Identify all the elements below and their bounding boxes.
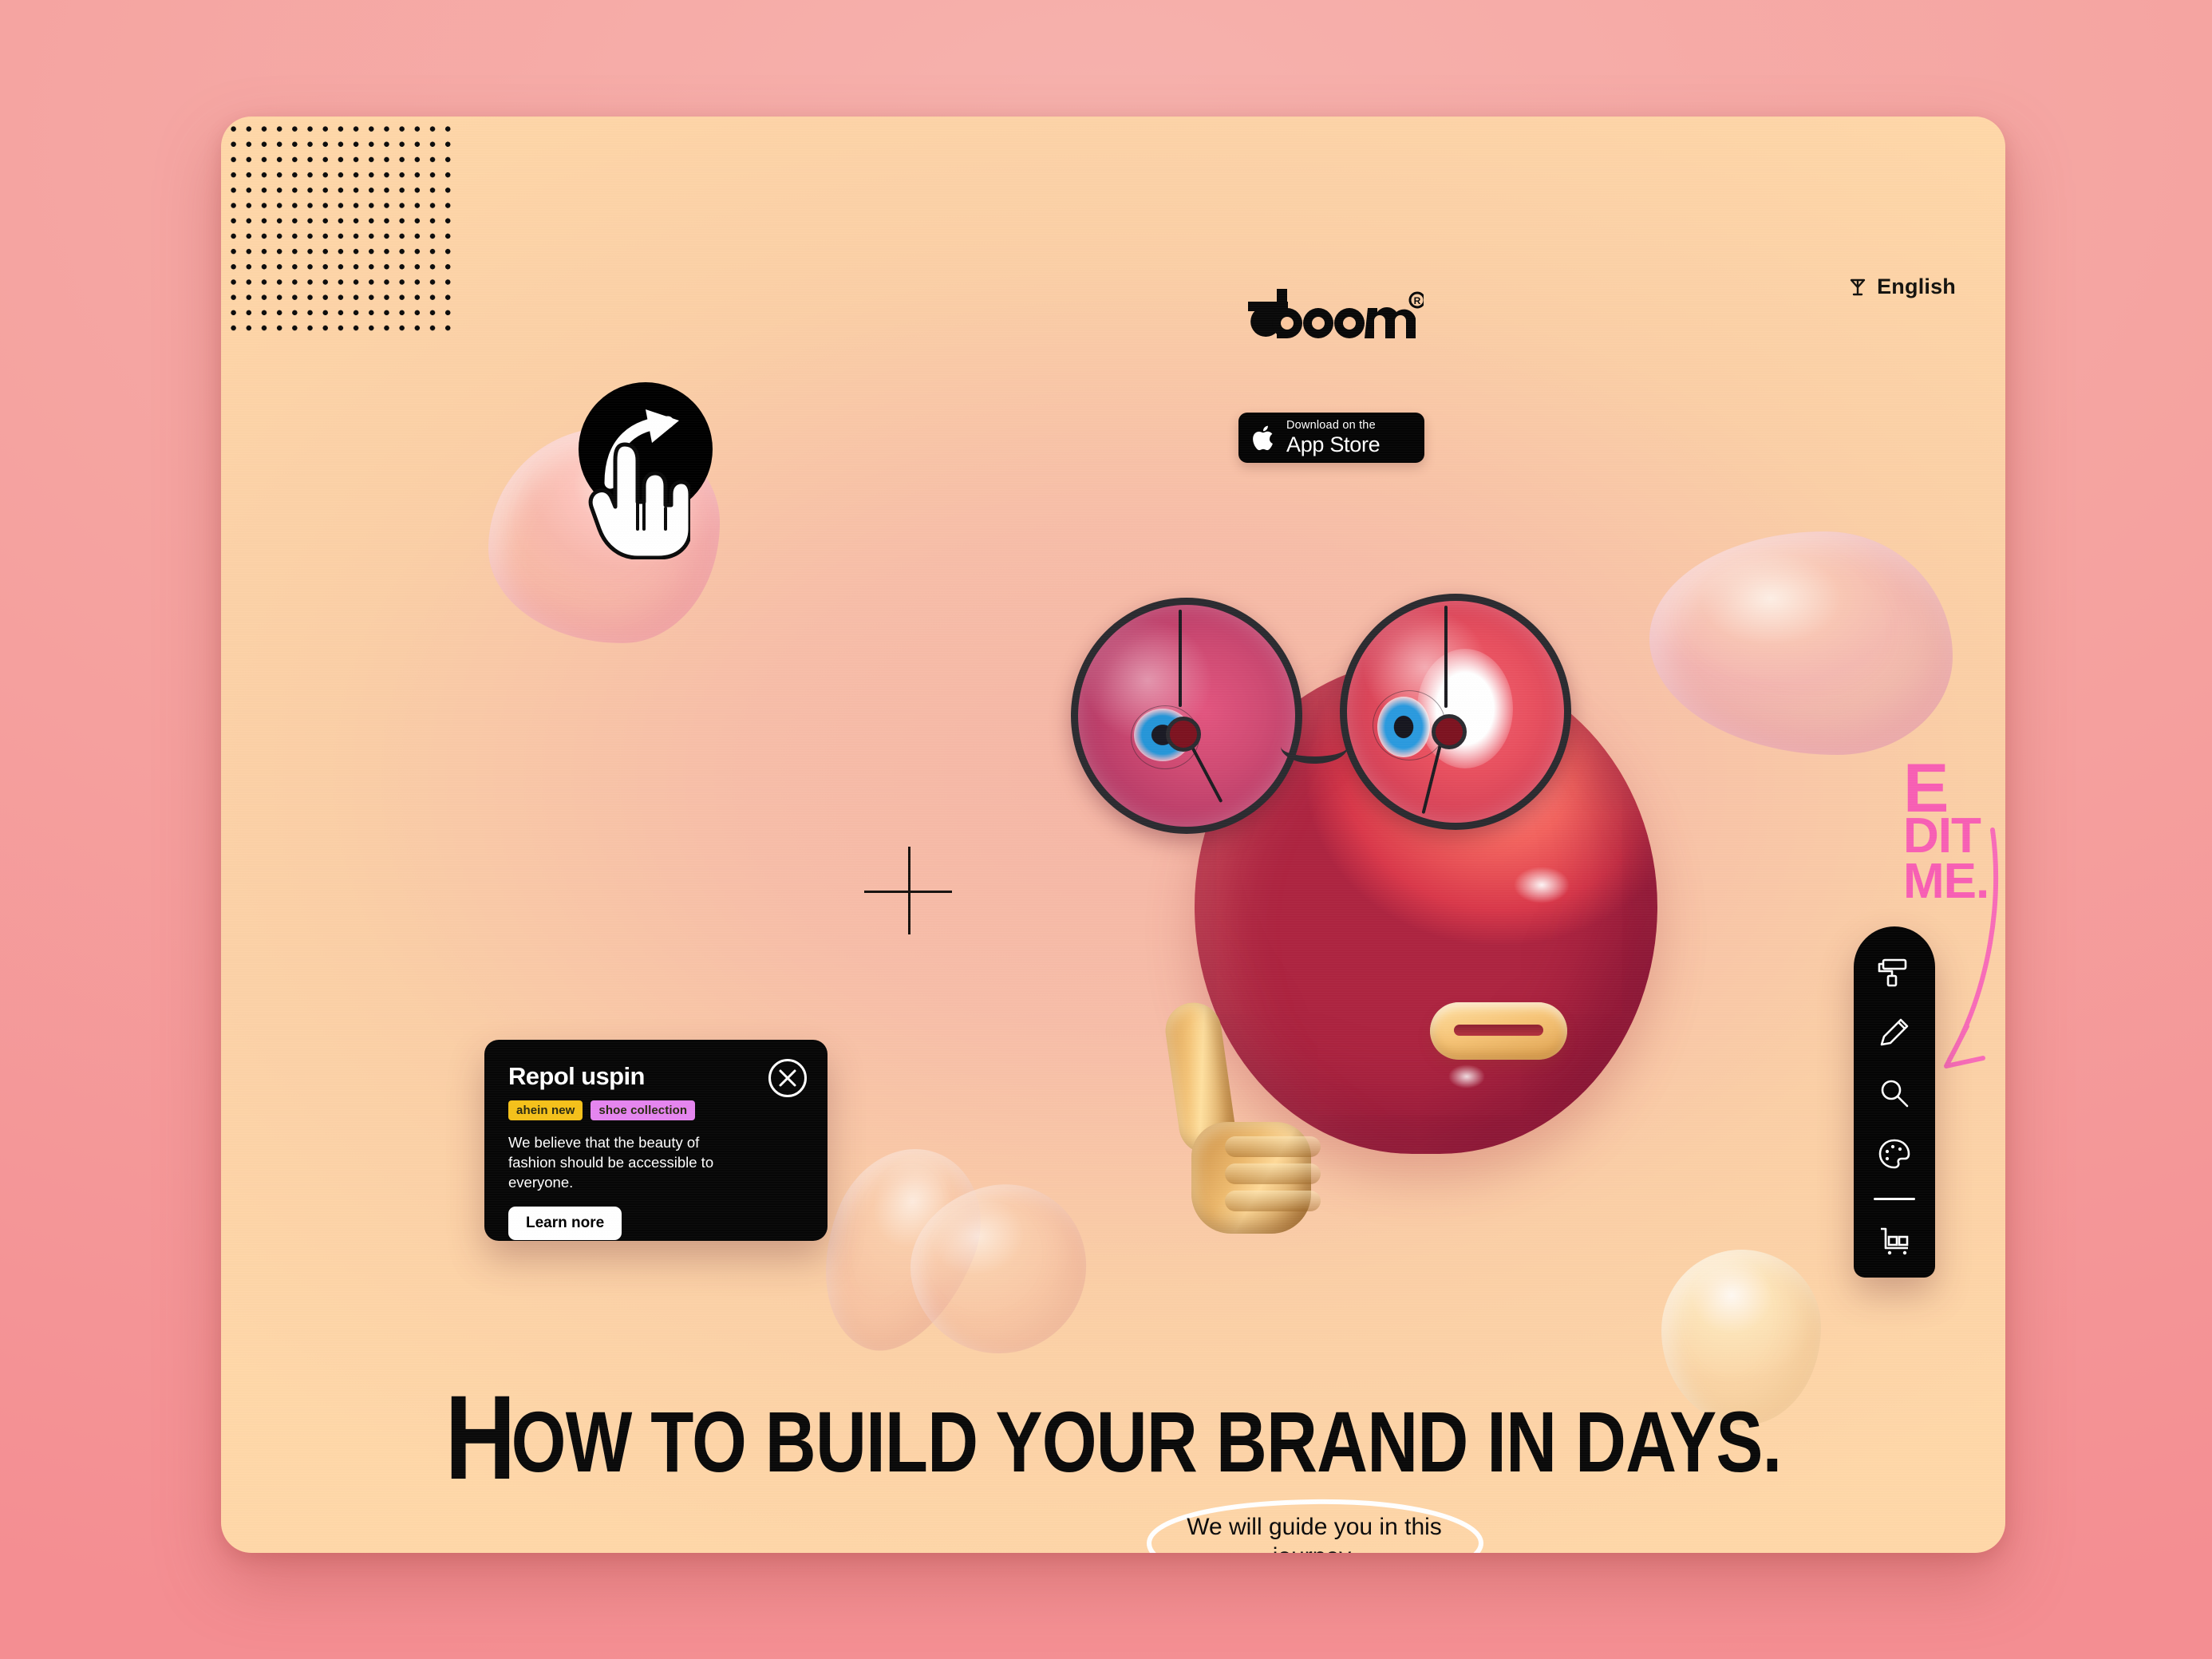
clock-hand-hour: [1444, 606, 1448, 708]
clock-ring: [1373, 690, 1446, 760]
toolbar-divider: [1874, 1198, 1915, 1200]
paint-roller-glyph: [1876, 954, 1913, 990]
dot-grid-pattern: [221, 117, 454, 340]
character-eye-white: [1417, 649, 1513, 768]
finger: [1225, 1163, 1321, 1184]
boom-wordmark: R: [1248, 287, 1424, 338]
app-store-big-label: App Store: [1286, 434, 1380, 456]
headline-big-letter: H: [445, 1401, 515, 1473]
character-iris: [1377, 697, 1430, 757]
promo-badge-new: ahein new: [508, 1100, 583, 1120]
shopping-cart-icon[interactable]: [1873, 1219, 1916, 1262]
character-iris: [1134, 709, 1191, 761]
pencil-icon[interactable]: [1873, 1011, 1916, 1054]
promo-title: Repol uspin: [508, 1062, 804, 1091]
character-head: [1195, 659, 1657, 1154]
app-store-download-button[interactable]: Download on the App Store: [1238, 413, 1424, 463]
paint-roller-icon[interactable]: [1873, 950, 1916, 993]
edit-me-rest: DIT: [1903, 808, 1981, 863]
subheadline-group: We will guide you in this journey.: [1143, 1494, 1486, 1553]
edit-me-line-1: EDIT: [1903, 764, 2005, 859]
learn-more-button[interactable]: Learn nore: [508, 1207, 622, 1240]
edit-me-line-2: ME.: [1903, 859, 2005, 904]
hero-card: R English Download on the App Store Repo…: [221, 117, 2005, 1553]
cart-glyph: [1876, 1223, 1913, 1259]
subheadline-text: We will guide you in this journey.: [1143, 1513, 1486, 1553]
pointing-hand-cursor-icon: [588, 440, 690, 559]
close-icon[interactable]: [768, 1059, 807, 1097]
edit-me-big-e: E: [1903, 764, 1945, 812]
promo-badge-collection: shoe collection: [591, 1100, 695, 1120]
promo-card: Repol uspin ahein new shoe collection We…: [484, 1040, 828, 1241]
palette-glyph: [1876, 1136, 1913, 1172]
page-title: HOW TO BUILD YOUR BRAND IN DAYS.: [381, 1392, 1845, 1491]
globe-arrow-icon: [1848, 276, 1867, 298]
language-label: English: [1877, 275, 1956, 299]
glasses-lens-left: [1071, 598, 1302, 834]
finger: [1225, 1136, 1321, 1157]
plus-crosshair-icon: [864, 847, 952, 934]
pencil-glyph: [1876, 1014, 1913, 1051]
finger: [1225, 1191, 1321, 1211]
editor-toolbar: [1854, 926, 1935, 1278]
glasses-bridge: [1281, 729, 1348, 764]
apple-icon: [1253, 424, 1277, 452]
close-x-glyph: [771, 1061, 804, 1095]
brand-logo[interactable]: R: [1248, 287, 1424, 338]
app-store-label-group: Download on the App Store: [1286, 420, 1380, 456]
character-mouth: [1430, 1002, 1567, 1060]
hero-character-illustration: [1147, 627, 1705, 1282]
clock-hand-minute: [1179, 724, 1223, 803]
character-thumbs-up-hand: [1164, 1002, 1332, 1234]
promo-badge-group: ahein new shoe collection: [508, 1100, 804, 1120]
clock-center: [1432, 714, 1467, 749]
magnifier-glyph: [1876, 1075, 1913, 1112]
edit-me-annotation: EDIT ME.: [1903, 764, 2005, 904]
decorative-blob: [896, 1169, 1103, 1369]
fist: [1191, 1122, 1311, 1234]
thumb: [1162, 999, 1238, 1157]
app-store-small-label: Download on the: [1286, 420, 1380, 432]
clock-center: [1166, 717, 1201, 752]
promo-body-text: We believe that the beauty of fashion sh…: [508, 1133, 748, 1192]
headline-rest: OW TO BUILD YOUR BRAND IN DAYS.: [512, 1393, 1782, 1490]
decorative-blob: [1649, 531, 1953, 755]
clock-ring: [1131, 705, 1199, 769]
language-switcher[interactable]: English: [1848, 275, 1956, 299]
palette-icon[interactable]: [1873, 1132, 1916, 1175]
search-icon[interactable]: [1873, 1072, 1916, 1115]
clock-hand-minute: [1422, 722, 1448, 814]
glasses-lens-right: [1340, 594, 1571, 830]
clock-hand-hour: [1179, 610, 1182, 707]
character-highlight: [1448, 1065, 1485, 1088]
svg-text:R: R: [1414, 295, 1421, 306]
character-highlight: [1514, 867, 1570, 903]
